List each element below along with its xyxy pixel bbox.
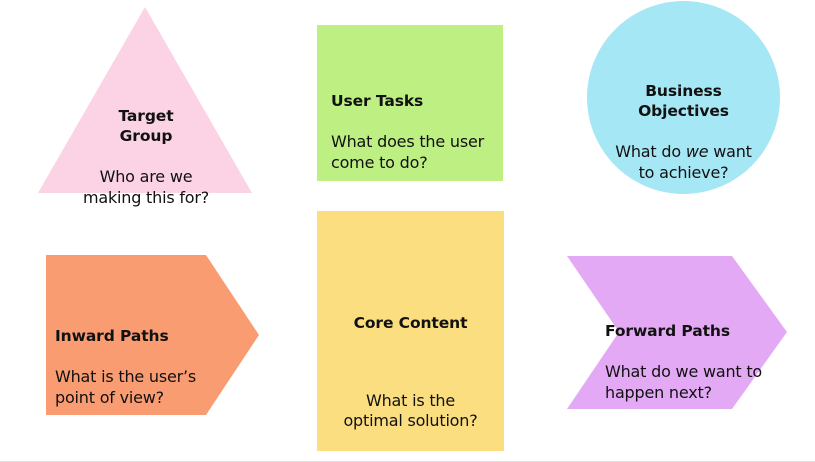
body-inward-paths: What is the user’s point of view? (55, 367, 235, 409)
body-user-tasks: What does the user come to do? (331, 132, 507, 174)
body-forward-paths: What do we want to happen next? (605, 362, 785, 404)
label-core-content: Core Content What is the optimal solutio… (317, 292, 504, 453)
title-business-objectives: Business Objectives (587, 81, 780, 121)
title-forward-paths: Forward Paths (605, 321, 785, 341)
body-target-group: Who are we making this for? (38, 167, 254, 209)
label-business-objectives: Business Objectives What do we want to a… (587, 60, 780, 204)
title-inward-paths: Inward Paths (55, 326, 235, 346)
label-inward-paths: Inward Paths What is the user’s point of… (55, 305, 235, 429)
label-forward-paths: Forward Paths What do we want to happen … (605, 300, 785, 424)
label-user-tasks: User Tasks What does the user come to do… (331, 70, 507, 194)
body-core-content: What is the optimal solution? (317, 391, 504, 433)
title-target-group: Target Group (38, 106, 254, 146)
body-business-objectives-part1: What do (615, 142, 686, 161)
label-target-group: Target Group Who are we making this for? (38, 85, 254, 229)
title-core-content: Core Content (317, 313, 504, 333)
diagram-canvas: Target Group Who are we making this for?… (0, 0, 815, 462)
spacer (317, 354, 504, 370)
body-business-objectives-emphasis: we (686, 142, 709, 161)
body-business-objectives: What do we want to achieve? (587, 142, 780, 184)
title-user-tasks: User Tasks (331, 91, 507, 111)
